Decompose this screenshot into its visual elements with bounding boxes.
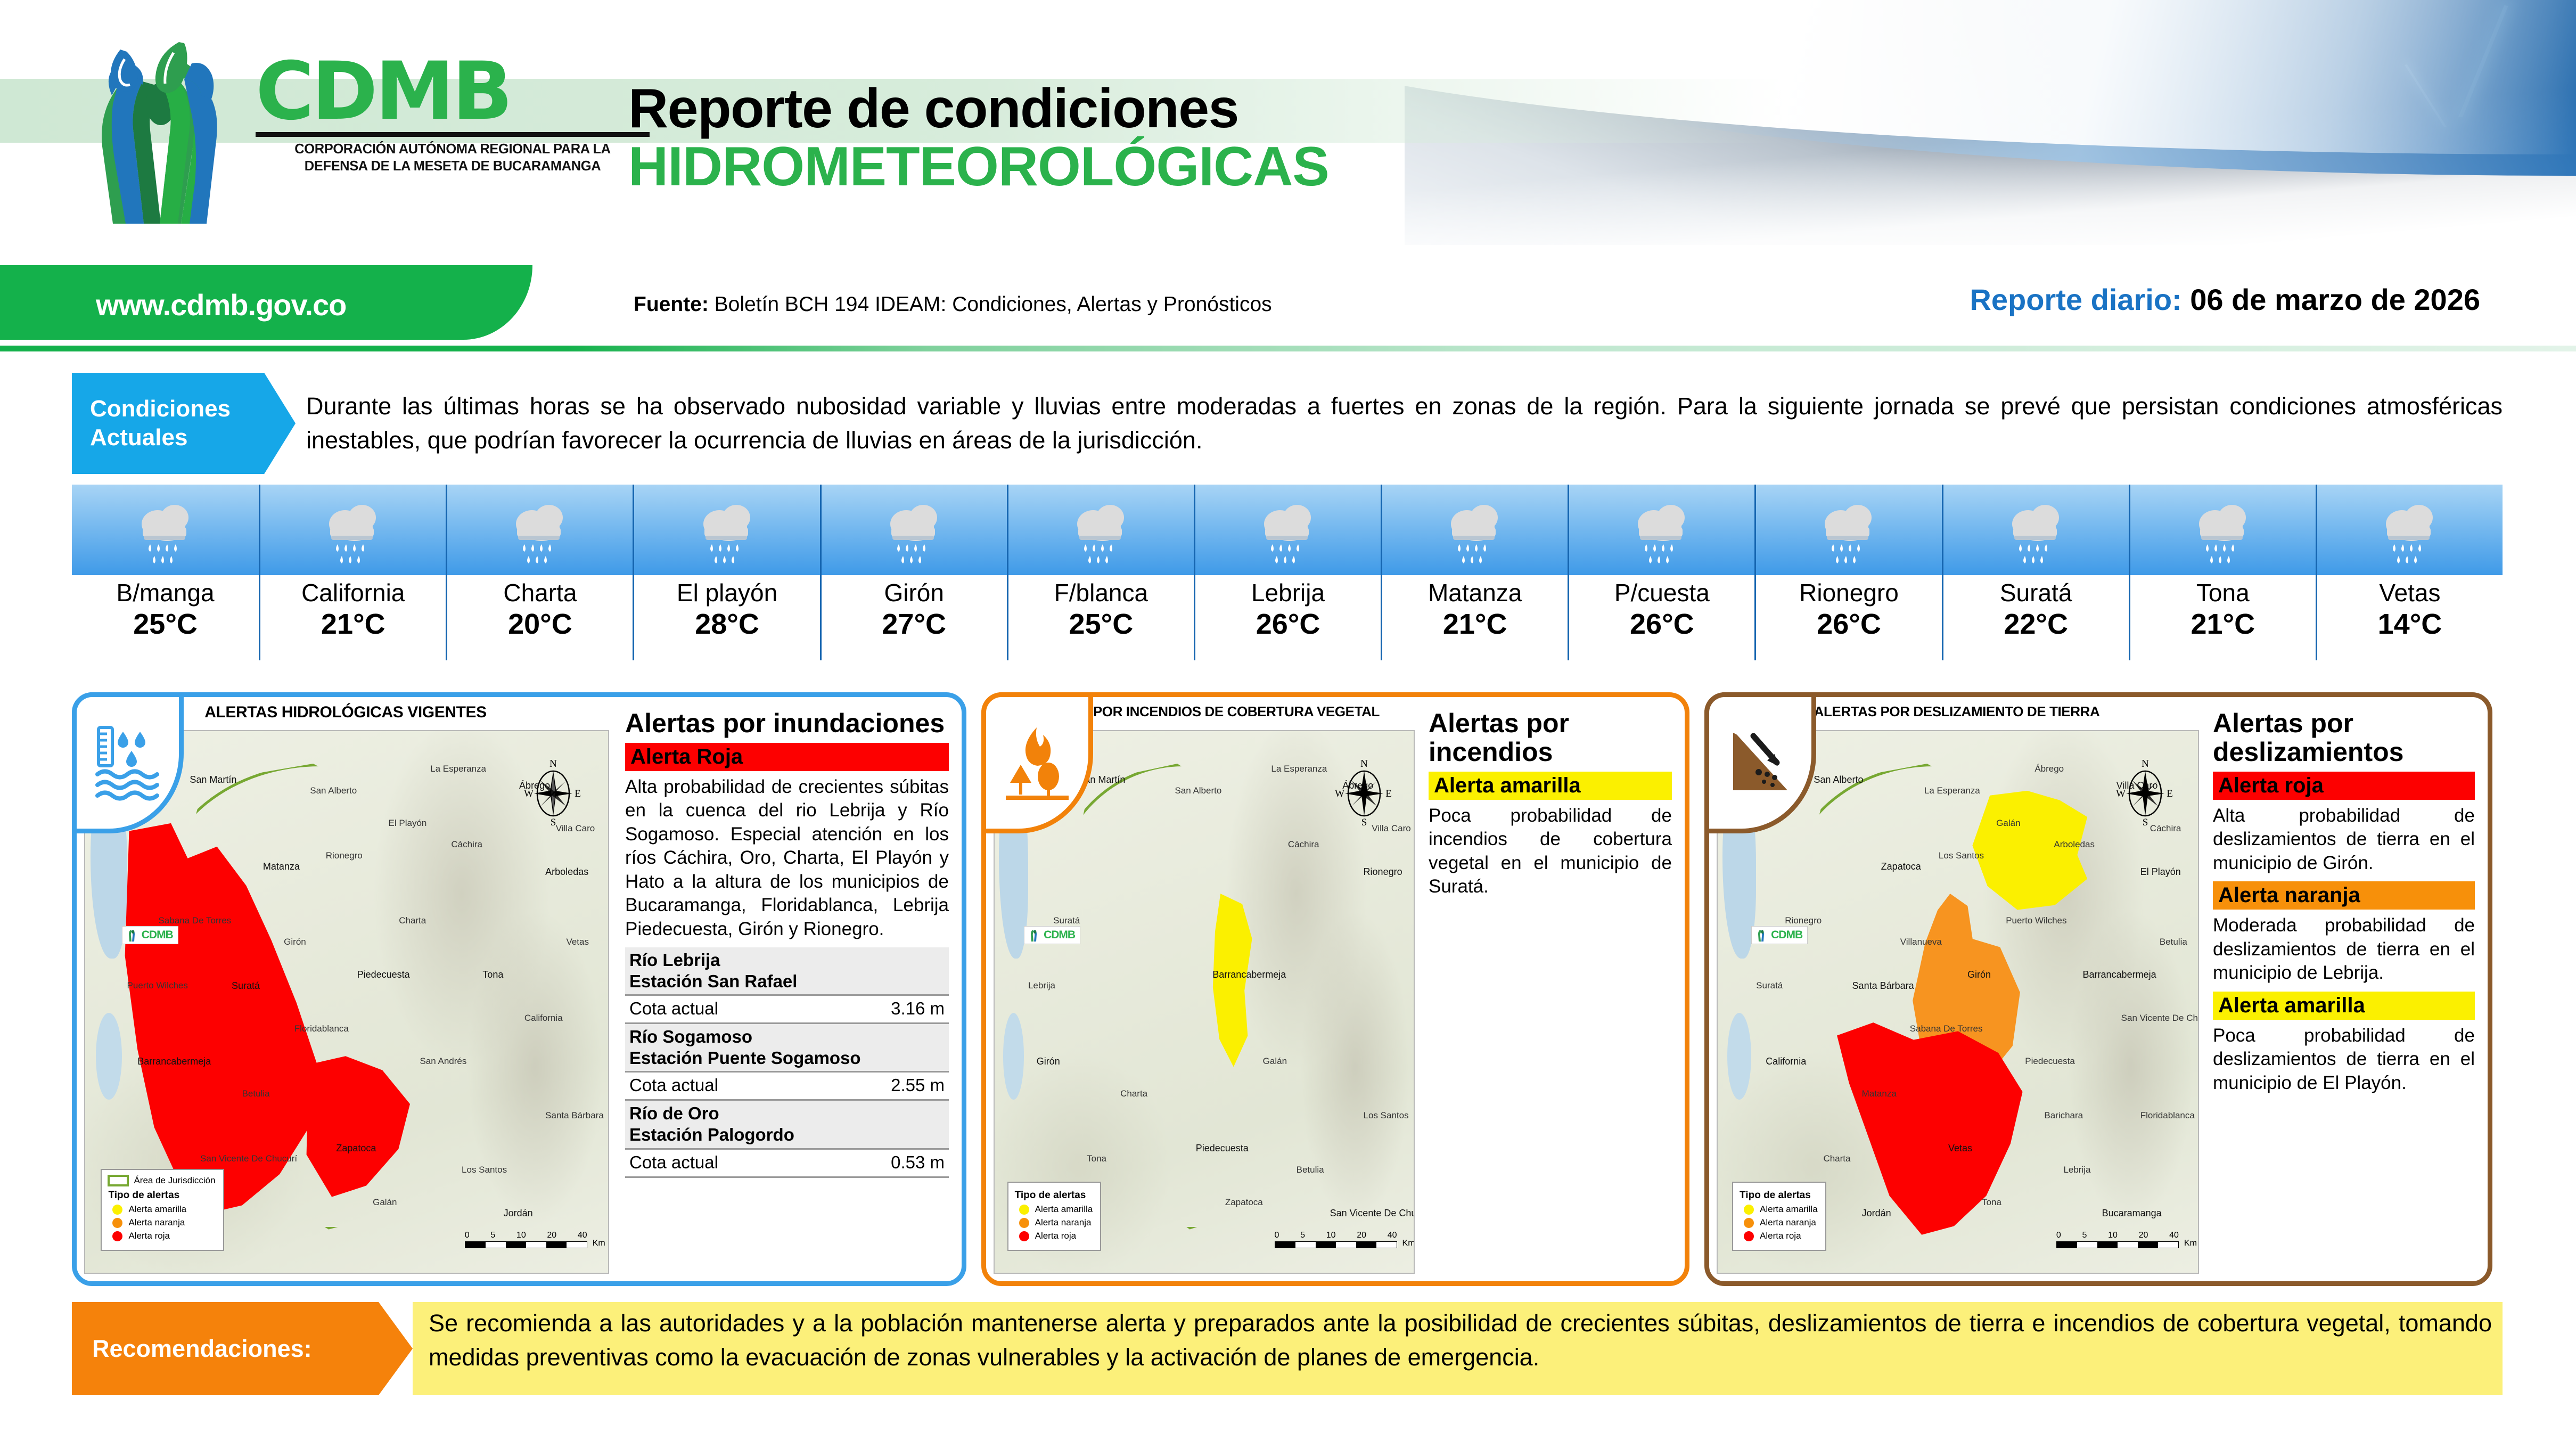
scale-tick-5: 5 <box>2082 1231 2087 1240</box>
compass-rose-icon: N S W E <box>1335 758 1393 828</box>
map-place-label: Galán <box>1996 818 2020 829</box>
conditions-tag: Condiciones Actuales <box>72 373 296 474</box>
map-place-label: Barrancabermeja <box>1212 969 1286 980</box>
measure-label: Cota actual <box>629 1152 718 1173</box>
river-station-measure-row: Cota actual0.53 m <box>625 1150 949 1178</box>
map-place-label: Barrancabermeja <box>137 1056 211 1067</box>
municipality-temperature-strip: B/manga25°CCalifornia21°CCharta20°CEl pl… <box>72 485 2503 660</box>
svg-text:S: S <box>2143 817 2148 828</box>
scale-unit: Km <box>593 1239 605 1248</box>
legend-dot-orange <box>1019 1218 1029 1228</box>
weather-sky-background <box>1942 485 2129 575</box>
legend-dot-red <box>1744 1231 1754 1241</box>
conditions-tag-line1: Condiciones <box>90 395 296 423</box>
page-title: Reporte de condiciones HIDROMETEOROLÓGIC… <box>628 80 1329 196</box>
svg-text:N: N <box>2142 758 2149 769</box>
svg-text:N: N <box>1360 758 1368 769</box>
landslide-alert-description: Alta probabilidad de deslizamientos de t… <box>2213 804 2475 875</box>
measure-value: 2.55 m <box>891 1075 945 1095</box>
map-place-label: Galán <box>373 1197 397 1208</box>
municipality-name: Suratá <box>1943 579 2129 607</box>
scale-unit: Km <box>2184 1239 2197 1248</box>
weather-sky-background <box>259 485 446 575</box>
temperature-cell-body: El playón28°C <box>633 575 819 660</box>
map-cdmb-label: CDMB <box>1044 929 1075 942</box>
map-cdmb-label: CDMB <box>142 929 173 942</box>
legend-jurisdiction-label: Área de Jurisdicción <box>134 1175 215 1186</box>
map-place-label: Piedecuesta <box>2025 1056 2075 1067</box>
municipality-temperature: 26°C <box>1756 607 1941 642</box>
water-body-2 <box>1003 1013 1024 1100</box>
temperature-cell: B/manga25°C <box>72 485 259 660</box>
temperature-cell-body: Girón27°C <box>820 575 1007 660</box>
map-place-label: Tona <box>1087 1153 1106 1164</box>
river-station-entry: Río LebrijaEstación San RafaelCota actua… <box>625 947 949 1024</box>
legend-dot-orange <box>1744 1218 1754 1228</box>
map-place-label: Suratá <box>232 980 260 992</box>
river-name: Río de Oro <box>629 1103 945 1124</box>
legend-jurisdiction-row: Área de Jurisdicción <box>108 1175 215 1186</box>
landslide-map-legend: Tipo de alertas Alerta amarilla Alerta n… <box>1732 1182 1826 1251</box>
scale-tick-20: 20 <box>2139 1231 2148 1240</box>
temperature-cell-body: California21°C <box>259 575 446 660</box>
legend-label-yellow: Alerta amarilla <box>1035 1204 1093 1215</box>
recommendations-tag: Recomendaciones: <box>72 1302 413 1395</box>
map-place-label: Los Santos <box>1364 1110 1409 1121</box>
municipality-name: El playón <box>634 579 819 607</box>
source-bar-rule <box>0 346 2576 351</box>
temperature-cell-body: Rionegro26°C <box>1754 575 1941 660</box>
legend-heading: Tipo de alertas <box>1740 1190 1818 1201</box>
river-name: Río Sogamoso <box>629 1026 945 1047</box>
logo-wordmark: CDMB <box>256 53 650 130</box>
temperature-cell-body: Suratá22°C <box>1942 575 2129 660</box>
landslide-alert-item: Alerta amarillaPoca probabilidad de desl… <box>2213 992 2475 1095</box>
municipality-name: Tona <box>2130 579 2316 607</box>
scale-unit: Km <box>1402 1239 1415 1248</box>
flood-map-scale-bar: 0 5 10 20 40 Km <box>465 1231 587 1248</box>
map-place-label: Girón <box>284 937 306 947</box>
temperature-cell-body: P/cuesta26°C <box>1568 575 1754 660</box>
river-station-header: Río SogamosoEstación Puente Sogamoso <box>625 1024 949 1073</box>
landslide-alert-description: Poca probabilidad de deslizamientos de t… <box>2213 1024 2475 1095</box>
map-place-label: Tona <box>1982 1197 2001 1208</box>
municipality-temperature: 22°C <box>1943 607 2129 642</box>
river-station-measure-row: Cota actual2.55 m <box>625 1073 949 1101</box>
map-cdmb-watermark: CDMB <box>1751 926 1808 944</box>
legend-label-yellow: Alerta amarilla <box>1760 1204 1818 1215</box>
scale-tick-5: 5 <box>490 1231 495 1240</box>
map-place-label: Matanza <box>263 861 300 872</box>
legend-label-red: Alerta roja <box>1035 1231 1076 1241</box>
municipality-temperature: 21°C <box>260 607 446 642</box>
conditions-text: Durante las últimas horas se ha observad… <box>306 373 2503 474</box>
municipality-temperature: 20°C <box>447 607 633 642</box>
legend-row-red: Alerta roja <box>112 1231 215 1241</box>
map-place-label: Jordán <box>1862 1208 1891 1219</box>
landslide-alert-level-badge: Alerta amarilla <box>2213 992 2475 1020</box>
map-place-label: Charta <box>1120 1088 1147 1099</box>
landslide-alert-level-badge: Alerta naranja <box>2213 881 2475 910</box>
landslide-alert-content: Alertas por deslizamientos Alerta rojaAl… <box>2204 697 2488 1281</box>
map-place-label: California <box>524 1013 563 1024</box>
weather-sky-background <box>820 485 1007 575</box>
landslide-alert-panel: ALERTAS POR DESLIZAMIENTO DE TIERRA CDMB… <box>1704 692 2492 1286</box>
map-place-label: Puerto Wilches <box>2006 915 2066 926</box>
map-place-label: Girón <box>1037 1056 1060 1067</box>
municipality-temperature: 25°C <box>72 607 259 642</box>
map-place-label: Zapatoca <box>1225 1197 1263 1208</box>
water-body-2 <box>1727 1013 1751 1100</box>
map-place-label: San Alberto <box>310 785 357 796</box>
municipality-name: Girón <box>822 579 1007 607</box>
temperature-cell: Rionegro26°C <box>1754 485 1941 660</box>
svg-text:W: W <box>524 788 534 799</box>
source-credit: Fuente: Boletín BCH 194 IDEAM: Condicion… <box>634 293 1272 316</box>
landslide-icon <box>1726 723 1795 803</box>
rain-cloud-icon <box>1061 493 1141 576</box>
logo-subtitle-line1: CORPORACIÓN AUTÓNOMA REGIONAL PARA LA <box>256 141 650 158</box>
map-place-label: California <box>1766 1056 1806 1067</box>
water-level-gauge-icon <box>93 723 162 803</box>
municipality-name: P/cuesta <box>1569 579 1754 607</box>
legend-label-yellow: Alerta amarilla <box>128 1204 186 1215</box>
fire-alert-level-badge: Alerta amarilla <box>1429 772 1672 800</box>
rain-cloud-icon <box>313 493 393 576</box>
landslide-alert-item: Alerta rojaAlta probabilidad de deslizam… <box>2213 772 2475 875</box>
legend-heading: Tipo de alertas <box>108 1190 215 1201</box>
scale-tick-labels: 0 5 10 20 40 <box>2056 1231 2179 1240</box>
legend-label-orange: Alerta naranja <box>128 1217 185 1228</box>
map-place-label: Suratá <box>1756 980 1783 991</box>
weather-sky-background <box>1007 485 1194 575</box>
svg-text:W: W <box>2116 788 2126 799</box>
river-station-header: Río de OroEstación Palogordo <box>625 1101 949 1149</box>
map-place-label: Rionegro <box>326 850 363 861</box>
legend-row-red: Alerta roja <box>1744 1231 1818 1241</box>
svg-text:E: E <box>575 788 581 799</box>
report-date-value: 06 de marzo de 2026 <box>2190 283 2480 316</box>
municipality-temperature: 26°C <box>1195 607 1381 642</box>
municipality-name: F/blanca <box>1008 579 1194 607</box>
legend-row-yellow: Alerta amarilla <box>1019 1204 1093 1215</box>
map-place-label: Betulia <box>1297 1165 1324 1175</box>
landslide-alert-description: Moderada probabilidad de deslizamientos … <box>2213 914 2475 985</box>
temperature-cell-body: Matanza21°C <box>1381 575 1568 660</box>
current-conditions-section: Condiciones Actuales Durante las últimas… <box>72 373 2503 474</box>
landslide-map-scale-bar: 0 5 10 20 40 Km <box>2056 1231 2179 1248</box>
weather-sky-background <box>1381 485 1568 575</box>
temperature-cell-body: Charta20°C <box>446 575 633 660</box>
landslide-alert-list: Alerta rojaAlta probabilidad de deslizam… <box>2213 772 2475 1095</box>
landslide-alert-item: Alerta naranjaModerada probabilidad de d… <box>2213 881 2475 985</box>
map-place-label: Santa Bárbara <box>1852 980 1914 992</box>
website-url[interactable]: www.cdmb.gov.co <box>96 288 346 322</box>
map-place-label: Cáchira <box>451 839 482 850</box>
legend-row-yellow: Alerta amarilla <box>1744 1204 1818 1215</box>
scale-tick-40: 40 <box>1388 1231 1397 1240</box>
svg-text:W: W <box>1335 788 1344 799</box>
legend-dot-orange <box>112 1218 122 1228</box>
map-place-label: Betulia <box>2160 937 2187 947</box>
conditions-tag-line2: Actuales <box>90 423 296 452</box>
fire-alert-content: Alertas por incendios Alerta amarilla Po… <box>1420 697 1685 1281</box>
measure-value: 3.16 m <box>891 998 945 1019</box>
fire-alert-panel: ALERTAS POR INCENDIOS DE COBERTURA VEGET… <box>981 692 1689 1286</box>
legend-label-orange: Alerta naranja <box>1035 1217 1092 1228</box>
map-place-label: Lebrija <box>1028 980 1055 991</box>
river-station-measure-row: Cota actual3.16 m <box>625 996 949 1024</box>
water-body-2 <box>96 1013 122 1100</box>
map-place-label: Zapatoca <box>336 1143 376 1154</box>
fire-map-legend: Tipo de alertas Alerta amarilla Alerta n… <box>1007 1182 1102 1251</box>
scale-tick-0: 0 <box>465 1231 470 1240</box>
rain-cloud-icon <box>874 493 954 576</box>
source-label: Fuente: <box>634 293 709 316</box>
temperature-cell: Tona21°C <box>2129 485 2316 660</box>
map-place-label: Villanueva <box>1900 937 1942 947</box>
map-place-label: Betulia <box>242 1088 270 1099</box>
legend-row-orange: Alerta naranja <box>1744 1217 1818 1228</box>
flood-map-legend: Área de Jurisdicción Tipo de alertas Ale… <box>101 1169 224 1251</box>
legend-label-red: Alerta roja <box>128 1231 169 1241</box>
weather-sky-background <box>1568 485 1754 575</box>
temperature-cell-body: F/blanca25°C <box>1007 575 1194 660</box>
legend-label-orange: Alerta naranja <box>1760 1217 1816 1228</box>
map-place-label: Arboledas <box>545 866 588 878</box>
temperature-cell: F/blanca25°C <box>1007 485 1194 660</box>
map-place-label: Puerto Wilches <box>127 980 188 991</box>
svg-text:S: S <box>1361 817 1367 828</box>
rain-cloud-icon <box>1622 493 1702 576</box>
rain-cloud-icon <box>2183 493 2263 576</box>
weather-sky-background <box>1194 485 1381 575</box>
temperature-cell: Girón27°C <box>820 485 1007 660</box>
report-date: Reporte diario: 06 de marzo de 2026 <box>1970 282 2480 317</box>
fire-map-scale-bar: 0 5 10 20 40 Km <box>1275 1231 1397 1248</box>
municipality-temperature: 14°C <box>2317 607 2503 642</box>
recommendations-section: Recomendaciones: Se recomienda a las aut… <box>72 1302 2503 1409</box>
flood-alert-content: Alertas por inundaciones Alerta Roja Alt… <box>614 697 962 1281</box>
station-name: Estación Palogordo <box>629 1124 945 1145</box>
scale-bar-graphic <box>2056 1241 2179 1248</box>
map-place-label: San Martín <box>190 774 236 785</box>
temperature-cell: California21°C <box>259 485 446 660</box>
map-place-label: El Playón <box>389 818 427 829</box>
river-station-table: Río LebrijaEstación San RafaelCota actua… <box>625 947 949 1178</box>
map-place-label: Matanza <box>1862 1088 1897 1099</box>
map-place-label: Girón <box>1967 969 1991 980</box>
map-place-label: Arboledas <box>2054 839 2095 850</box>
legend-dot-yellow <box>112 1205 122 1215</box>
map-place-label: San Alberto <box>1175 785 1221 796</box>
page-header: CDMB CORPORACIÓN AUTÓNOMA REGIONAL PARA … <box>0 0 2576 266</box>
map-place-label: Suratá <box>1053 915 1080 926</box>
station-name: Estación San Rafael <box>629 971 945 992</box>
measure-value: 0.53 m <box>891 1152 945 1173</box>
map-place-label: Rionegro <box>1785 915 1822 926</box>
scale-tick-40: 40 <box>578 1231 587 1240</box>
river-station-entry: Río SogamosoEstación Puente SogamosoCota… <box>625 1024 949 1101</box>
map-place-label: El Playón <box>2140 866 2181 878</box>
map-place-label: Los Santos <box>1939 850 1984 861</box>
landslide-alert-level-badge: Alerta roja <box>2213 772 2475 800</box>
recommendations-text: Se recomienda a las autoridades y a la p… <box>413 1302 2503 1395</box>
measure-label: Cota actual <box>629 1075 718 1095</box>
municipality-name: California <box>260 579 446 607</box>
river-station-entry: Río de OroEstación PalogordoCota actual0… <box>625 1101 949 1177</box>
weather-sky-background <box>446 485 633 575</box>
flood-panel-title: Alertas por inundaciones <box>625 709 949 738</box>
weather-sky-background <box>2316 485 2503 575</box>
legend-row-orange: Alerta naranja <box>1019 1217 1093 1228</box>
legend-dot-yellow <box>1019 1205 1029 1215</box>
map-place-label: Santa Bárbara <box>545 1110 604 1121</box>
compass-rose-icon: N S W E <box>524 758 582 828</box>
scale-tick-10: 10 <box>1326 1231 1336 1240</box>
legend-row-red: Alerta roja <box>1019 1231 1093 1241</box>
temperature-cell: El playón28°C <box>633 485 819 660</box>
map-place-label: Charta <box>1823 1153 1850 1164</box>
logo-subtitle-line2: DEFENSA DE LA MESETA DE BUCARAMANGA <box>256 158 650 175</box>
legend-row-yellow: Alerta amarilla <box>112 1204 215 1215</box>
title-line-1: Reporte de condiciones <box>628 80 1329 138</box>
fire-alert-description: Poca probabilidad de incendios de cobert… <box>1429 804 1672 899</box>
map-place-label: San Andrés <box>420 1056 466 1067</box>
scale-tick-labels: 0 5 10 20 40 <box>465 1231 587 1240</box>
rain-cloud-icon <box>126 493 206 576</box>
temperature-cell: Suratá22°C <box>1942 485 2129 660</box>
map-place-label: La Esperanza <box>1271 764 1327 774</box>
scale-bar-graphic <box>1275 1241 1397 1248</box>
scale-tick-0: 0 <box>2056 1231 2061 1240</box>
rain-cloud-icon <box>1435 493 1515 576</box>
report-date-label: Reporte diario: <box>1970 283 2181 316</box>
alert-panels-row: ALERTAS HIDROLÓGICAS VIGENTES CDMB N S W <box>72 692 2503 1286</box>
legend-row-orange: Alerta naranja <box>112 1217 215 1228</box>
municipality-temperature: 27°C <box>822 607 1007 642</box>
municipality-temperature: 25°C <box>1008 607 1194 642</box>
municipality-temperature: 28°C <box>634 607 819 642</box>
scale-tick-20: 20 <box>1357 1231 1366 1240</box>
scale-tick-40: 40 <box>2169 1231 2179 1240</box>
title-line-2: HIDROMETEOROLÓGICAS <box>628 138 1329 196</box>
flood-alert-description: Alta probabilidad de crecientes súbitas … <box>625 775 949 941</box>
map-place-label: Charta <box>399 915 426 926</box>
municipality-name: Lebrija <box>1195 579 1381 607</box>
scale-tick-labels: 0 5 10 20 40 <box>1275 1231 1397 1240</box>
map-place-label: Cáchira <box>1288 839 1319 850</box>
temperature-cell-body: B/manga25°C <box>72 575 259 660</box>
map-place-label: Piedecuesta <box>357 969 410 980</box>
svg-text:S: S <box>551 817 556 828</box>
scale-tick-0: 0 <box>1275 1231 1279 1240</box>
municipality-name: Matanza <box>1382 579 1568 607</box>
flood-alert-panel: ALERTAS HIDROLÓGICAS VIGENTES CDMB N S W <box>72 692 966 1286</box>
svg-text:N: N <box>549 758 557 769</box>
map-place-label: San Vicente De Chucurí <box>1330 1208 1415 1219</box>
weather-sky-background <box>2129 485 2316 575</box>
source-value: Boletín BCH 194 IDEAM: Condiciones, Aler… <box>715 293 1272 316</box>
svg-text:E: E <box>1385 788 1392 799</box>
scale-tick-5: 5 <box>1300 1231 1305 1240</box>
weather-sky-background <box>72 485 259 575</box>
map-place-label: Jordán <box>504 1208 533 1219</box>
legend-jurisdiction-swatch <box>108 1175 129 1186</box>
cdmb-logo: CDMB CORPORACIÓN AUTÓNOMA REGIONAL PARA … <box>80 40 655 224</box>
municipality-temperature: 21°C <box>2130 607 2316 642</box>
temperature-cell-body: Tona21°C <box>2129 575 2316 660</box>
scale-bar-graphic <box>465 1241 587 1248</box>
rain-cloud-icon <box>1996 493 2076 576</box>
fire-panel-title: Alertas por incendios <box>1429 709 1672 766</box>
map-place-label: Rionegro <box>1364 866 1402 878</box>
temperature-cell-body: Vetas14°C <box>2316 575 2503 660</box>
municipality-temperature: 26°C <box>1569 607 1754 642</box>
map-place-label: Vetas <box>1948 1143 1972 1154</box>
map-place-label: Zapatoca <box>1881 861 1921 872</box>
legend-dot-red <box>112 1231 122 1241</box>
temperature-cell: Vetas14°C <box>2316 485 2503 660</box>
river-station-header: Río LebrijaEstación San Rafael <box>625 947 949 996</box>
compass-rose-icon: N S W E <box>2116 758 2174 828</box>
station-name: Estación Puente Sogamoso <box>629 1047 945 1069</box>
landslide-panel-title: Alertas por deslizamientos <box>2213 709 2475 766</box>
cdmb-logo-mark-icon <box>80 40 253 224</box>
temperature-cell: Matanza21°C <box>1381 485 1568 660</box>
map-place-label: La Esperanza <box>1924 785 1980 796</box>
map-cdmb-watermark: CDMB <box>122 926 178 944</box>
svg-text:E: E <box>2167 788 2173 799</box>
rain-cloud-icon <box>687 493 767 576</box>
rain-cloud-icon <box>1809 493 1889 576</box>
municipality-name: Rionegro <box>1756 579 1941 607</box>
map-place-label: San Vicente De Chucurí <box>200 1153 297 1164</box>
municipality-temperature: 21°C <box>1382 607 1568 642</box>
weather-sky-background <box>633 485 819 575</box>
map-cdmb-label: CDMB <box>1771 929 1802 942</box>
map-place-label: Lebrija <box>2063 1165 2090 1175</box>
measure-label: Cota actual <box>629 998 718 1019</box>
rain-cloud-icon <box>1248 493 1328 576</box>
map-place-label: Barichara <box>2044 1110 2083 1121</box>
map-place-label: Piedecuesta <box>1196 1143 1249 1154</box>
scale-tick-10: 10 <box>2108 1231 2118 1240</box>
map-place-label: San Alberto <box>1814 774 1863 785</box>
temperature-cell: P/cuesta26°C <box>1568 485 1754 660</box>
map-place-label: San Vicente De Chucurí <box>2121 1013 2199 1024</box>
legend-dot-yellow <box>1744 1205 1754 1215</box>
map-place-label: Floridablanca <box>2140 1110 2195 1121</box>
rain-cloud-icon <box>500 493 580 576</box>
flood-map-canvas: CDMB N S W E <box>84 730 609 1274</box>
municipality-name: Vetas <box>2317 579 2503 607</box>
municipality-name: B/manga <box>72 579 259 607</box>
map-place-label: Tona <box>482 969 503 980</box>
temperature-cell-body: Lebrija26°C <box>1194 575 1381 660</box>
source-date-bar: www.cdmb.gov.co Fuente: Boletín BCH 194 … <box>0 265 2576 351</box>
map-place-label: Sabana De Torres <box>158 915 231 926</box>
map-place-label: Floridablanca <box>294 1024 349 1034</box>
scale-tick-20: 20 <box>547 1231 556 1240</box>
rain-cloud-icon <box>2370 493 2450 576</box>
temperature-cell: Lebrija26°C <box>1194 485 1381 660</box>
map-place-label: Los Santos <box>462 1165 507 1175</box>
flood-alert-level-badge: Alerta Roja <box>625 743 949 771</box>
legend-heading: Tipo de alertas <box>1015 1190 1093 1201</box>
legend-dot-red <box>1019 1231 1029 1241</box>
river-name: Río Lebrija <box>629 949 945 971</box>
